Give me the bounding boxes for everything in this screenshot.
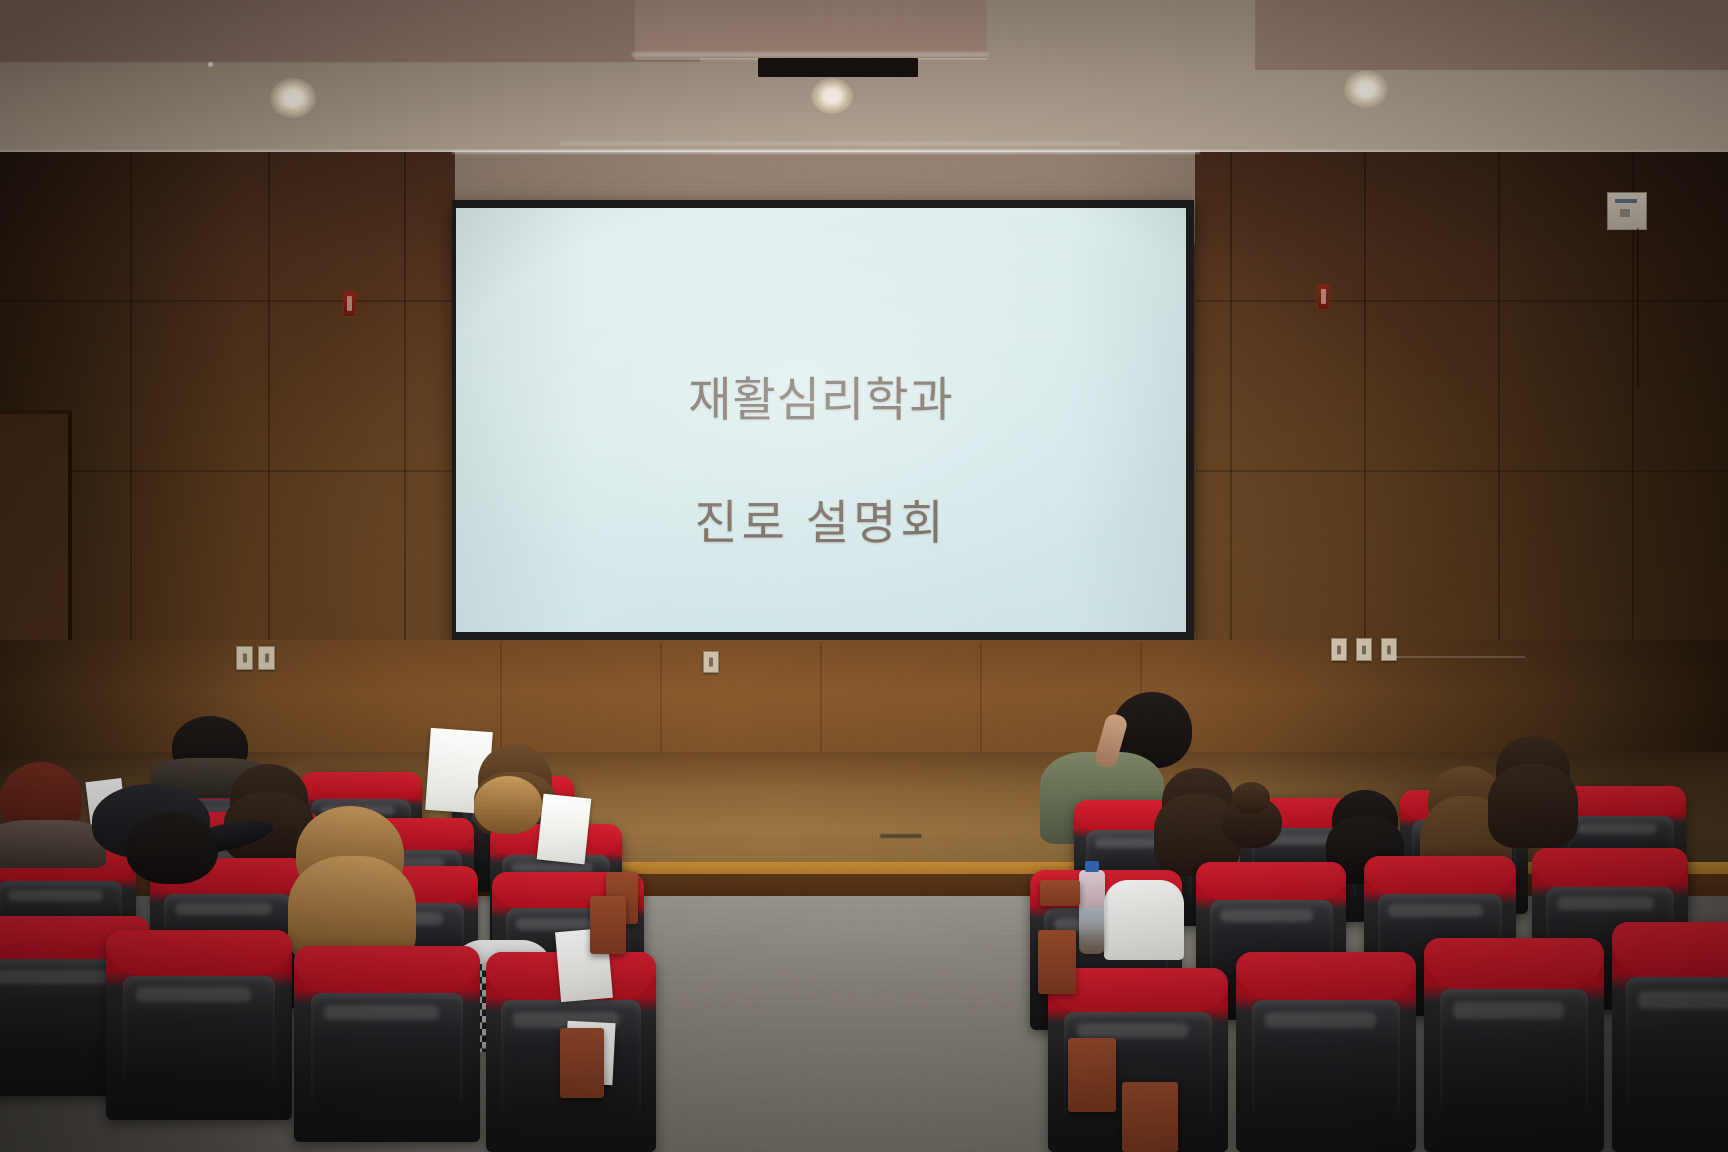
outlet-left-wall-icon[interactable]	[236, 646, 253, 670]
armrest	[590, 896, 626, 954]
wall-joint	[404, 152, 406, 652]
wall-joint	[1364, 152, 1366, 652]
attendee-head	[474, 776, 542, 834]
attendee-shoulders	[0, 820, 106, 868]
auditorium-photo: 재활심리학과 진로 설명회	[0, 0, 1728, 1152]
seat[interactable]	[294, 946, 480, 1142]
downlight-right-icon	[1344, 70, 1388, 108]
ceiling-seam-secondary	[560, 142, 1120, 145]
wall-joint	[1498, 152, 1500, 652]
outlet-right-b-icon[interactable]	[1356, 638, 1372, 661]
wall-rail	[0, 300, 452, 302]
armrest	[1122, 1082, 1178, 1152]
screen-recess-lip	[452, 150, 1200, 154]
armrest	[1038, 930, 1076, 994]
wall-joint	[268, 152, 270, 652]
slide-content: 재활심리학과 진로 설명회	[456, 208, 1186, 632]
wall-rail	[1196, 300, 1728, 302]
ceiling-bulkhead	[635, 0, 987, 58]
ceiling-slab-right	[1255, 0, 1728, 70]
seat[interactable]	[1424, 938, 1604, 1152]
emergency-alarm-left-icon	[344, 292, 355, 316]
attendee-head	[126, 812, 218, 884]
armrest	[1040, 880, 1080, 906]
outlet-center-stage-icon[interactable]	[703, 651, 719, 673]
hair-bun-icon	[1232, 782, 1270, 814]
control-panel-wire	[1637, 228, 1639, 388]
wall-rail	[1196, 470, 1728, 472]
emergency-alarm-right-icon	[1318, 285, 1329, 309]
water-bottle[interactable]	[1079, 870, 1105, 954]
wall-control-panel-icon[interactable]	[1607, 192, 1647, 230]
armrest	[1068, 1038, 1116, 1112]
downlight-left-icon	[270, 78, 316, 118]
seat[interactable]	[1236, 952, 1416, 1152]
armrest	[560, 1028, 604, 1098]
seat[interactable]	[1612, 922, 1728, 1152]
outlet-right-a-icon[interactable]	[1331, 638, 1347, 661]
attendee-shoulders	[1104, 880, 1184, 960]
handout-paper[interactable]	[537, 794, 592, 865]
wainscot-trim	[1395, 656, 1525, 658]
ceiling-shadow-left	[0, 0, 700, 62]
outlet-left-wall-icon-2[interactable]	[258, 646, 275, 670]
ceiling-bulkhead-edge	[632, 52, 988, 57]
slide-title-line-2: 진로 설명회	[694, 484, 947, 553]
slide-title-line-1: 재활심리학과	[688, 361, 953, 430]
ceiling-speck	[208, 62, 213, 67]
seat[interactable]	[106, 930, 292, 1120]
wall-joint	[130, 152, 132, 652]
wall-joint	[1230, 152, 1232, 652]
downlight-center-icon	[811, 78, 853, 114]
ceiling-vent-icon	[758, 58, 918, 77]
attendee-hair	[1488, 764, 1578, 848]
